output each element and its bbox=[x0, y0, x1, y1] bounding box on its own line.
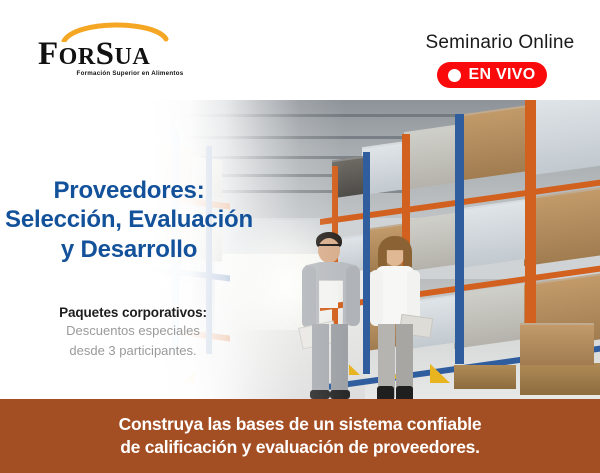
corporate-packages-block: Paquetes corporativos: Descuentos especi… bbox=[0, 305, 266, 359]
pallet-load bbox=[404, 124, 462, 190]
left-arm bbox=[302, 266, 316, 328]
left-boot bbox=[377, 386, 394, 399]
bottom-message-bar: Construya las bases de un sistema confia… bbox=[0, 399, 600, 473]
wooden-pallet bbox=[454, 365, 516, 389]
forsua-logo[interactable]: FORSUA Formación Superior en Alimentos bbox=[38, 16, 188, 78]
logo-letters-ua: UA bbox=[115, 44, 151, 70]
logo-tagline: Formación Superior en Alimentos bbox=[70, 70, 190, 77]
packages-line-2: desde 3 participantes. bbox=[0, 342, 266, 360]
live-dot-icon bbox=[448, 69, 461, 82]
pallet-load bbox=[458, 105, 528, 181]
rack-upright bbox=[525, 100, 536, 356]
left-leg bbox=[312, 324, 329, 394]
floor-guard bbox=[126, 367, 142, 387]
pallet-load bbox=[454, 283, 524, 349]
floor-guard bbox=[46, 365, 68, 391]
pallet-load bbox=[456, 199, 526, 269]
businessman-figure bbox=[296, 232, 366, 399]
pallet-load bbox=[526, 100, 600, 176]
right-leg bbox=[331, 324, 348, 394]
live-badge-label: EN VIVO bbox=[468, 67, 535, 83]
left-shoe bbox=[310, 390, 330, 399]
seminar-promo-banner: FORSUA Formación Superior en Alimentos S… bbox=[0, 0, 600, 473]
right-arm bbox=[346, 266, 360, 326]
floor-guard bbox=[182, 368, 194, 383]
title-line-2: Selección, Evaluación bbox=[0, 205, 258, 234]
packages-line-1: Descuentos especiales bbox=[0, 322, 266, 340]
businesswoman-figure bbox=[360, 238, 430, 399]
bottom-line-2: de calificación y evaluación de proveedo… bbox=[0, 436, 600, 459]
bottom-line-1: Construya las bases de un sistema confia… bbox=[0, 413, 600, 436]
logo-letter-f: F bbox=[38, 36, 59, 72]
stacked-box bbox=[520, 323, 594, 365]
wooden-pallet bbox=[520, 363, 600, 395]
logo-wordmark: FORSUA bbox=[38, 38, 188, 71]
left-arm bbox=[370, 270, 383, 326]
title-line-3: y Desarrollo bbox=[0, 235, 258, 264]
right-boot bbox=[396, 386, 413, 399]
rack-upright bbox=[455, 114, 464, 364]
glasses bbox=[317, 244, 341, 251]
right-shoe bbox=[330, 390, 350, 399]
seminar-type-label: Seminario Online bbox=[400, 32, 600, 54]
bottom-message-text: Construya las bases de un sistema confia… bbox=[0, 413, 600, 459]
pallet-load bbox=[0, 102, 60, 177]
title-line-1: Proveedores: bbox=[0, 176, 258, 205]
logo-letters-or: OR bbox=[59, 44, 96, 70]
page-title: Proveedores: Selección, Evaluación y Des… bbox=[0, 176, 258, 264]
live-badge: EN VIVO bbox=[437, 62, 547, 88]
packages-title: Paquetes corporativos: bbox=[0, 305, 266, 320]
logo-letter-s: S bbox=[96, 36, 115, 72]
